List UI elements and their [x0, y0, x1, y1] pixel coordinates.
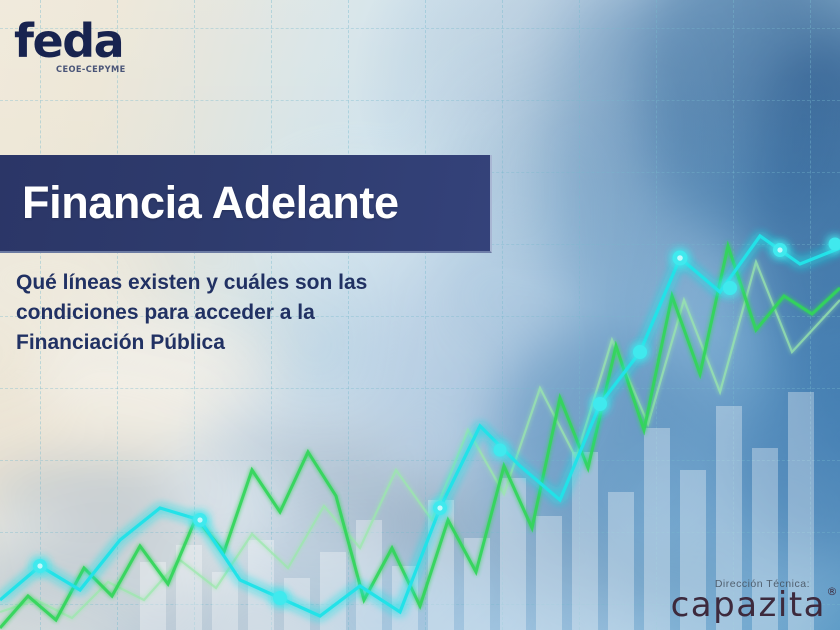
subtitle-line-1: Qué líneas existen y cuáles son las [16, 268, 456, 298]
capazita-logo: Dirección Técnica: capazita ® [671, 578, 826, 622]
presentation-slide: feda CEOE-CEPYME Financia Adelante Qué l… [0, 0, 840, 630]
feda-logo: feda CEOE-CEPYME [14, 18, 132, 75]
feda-logo-wordmark: feda [14, 18, 132, 64]
feda-logo-subtitle: CEOE-CEPYME [56, 66, 126, 75]
subtitle-line-3: Financiación Pública [16, 328, 456, 358]
subtitle-line-2: condiciones para acceder a la [16, 298, 456, 328]
subtitle-block: Qué líneas existen y cuáles son las cond… [16, 268, 456, 357]
page-title: Financia Adelante [0, 177, 399, 229]
title-banner: Financia Adelante [0, 155, 492, 253]
capazita-wordmark-text: capazita [671, 585, 826, 625]
registered-mark-icon: ® [827, 586, 840, 597]
capazita-wordmark: capazita ® [671, 588, 826, 622]
